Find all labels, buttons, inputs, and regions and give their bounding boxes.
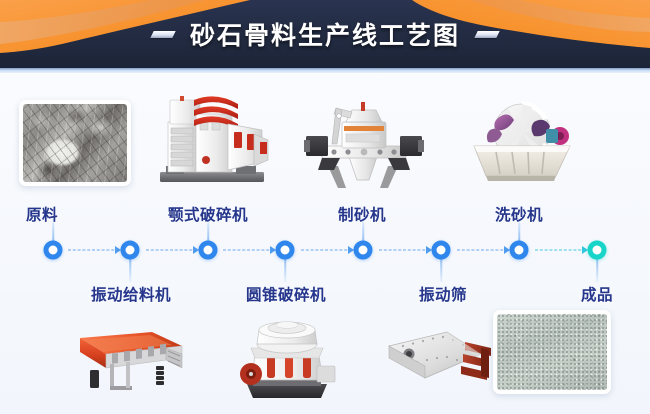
header-banner: 砂石骨料生产线工艺图: [0, 0, 650, 68]
label-vibrating-feeder: 振动给料机: [91, 283, 171, 305]
cone-crusher-image: [233, 310, 341, 404]
flow-node-vibrating-feeder[interactable]: [121, 241, 140, 260]
label-sand-washer: 洗砂机: [495, 203, 543, 225]
page-title: 砂石骨料生产线工艺图: [190, 16, 460, 52]
label-sand-maker: 制砂机: [338, 203, 386, 225]
finished-product-photo-card: [493, 310, 611, 394]
header-divider: [0, 68, 650, 73]
rock-photo: [23, 104, 127, 182]
title-dash-left-icon: [150, 31, 175, 38]
label-jaw-crusher: 颚式破碎机: [168, 203, 248, 225]
label-cone-crusher: 圆锥破碎机: [246, 283, 326, 305]
stem-vibrating-feeder: [129, 258, 131, 282]
flow-node-sand-maker[interactable]: [354, 241, 373, 260]
stem-cone-crusher: [284, 258, 286, 282]
label-finished-product: 成品: [581, 283, 613, 305]
stem-finished-product: [596, 258, 598, 282]
sand-maker-image: [302, 92, 426, 192]
label-vibrating-screen: 振动筛: [419, 283, 467, 305]
title-dash-right-icon: [474, 31, 499, 38]
flow-node-vibrating-screen[interactable]: [432, 241, 451, 260]
vibrating-screen-image: [381, 316, 505, 402]
flow-arrow-3: [223, 250, 274, 251]
flow-node-cone-crusher[interactable]: [276, 241, 295, 260]
flow-arrow-1: [68, 250, 119, 251]
jaw-crusher-image: [154, 88, 276, 192]
flow-node-raw-material[interactable]: [44, 241, 63, 260]
flow-arrow-4: [301, 250, 352, 251]
flow-arrow-6: [457, 250, 508, 251]
flow-arrow-2: [146, 250, 197, 251]
process-flow-diagram: 砂石骨料生产线工艺图: [0, 0, 650, 414]
stem-vibrating-screen: [440, 258, 442, 282]
flow-node-finished-product[interactable]: [588, 241, 607, 260]
aggregate-photo: [497, 314, 607, 390]
flow-node-sand-washer[interactable]: [510, 241, 529, 260]
flow-arrow-7: [535, 250, 586, 251]
raw-material-photo-card: [19, 100, 131, 186]
sand-washer-image: [460, 96, 582, 190]
flow-arrow-5: [379, 250, 430, 251]
vibrating-feeder-image: [70, 318, 192, 402]
label-raw-material: 原料: [26, 203, 58, 225]
flow-node-jaw-crusher[interactable]: [199, 241, 218, 260]
